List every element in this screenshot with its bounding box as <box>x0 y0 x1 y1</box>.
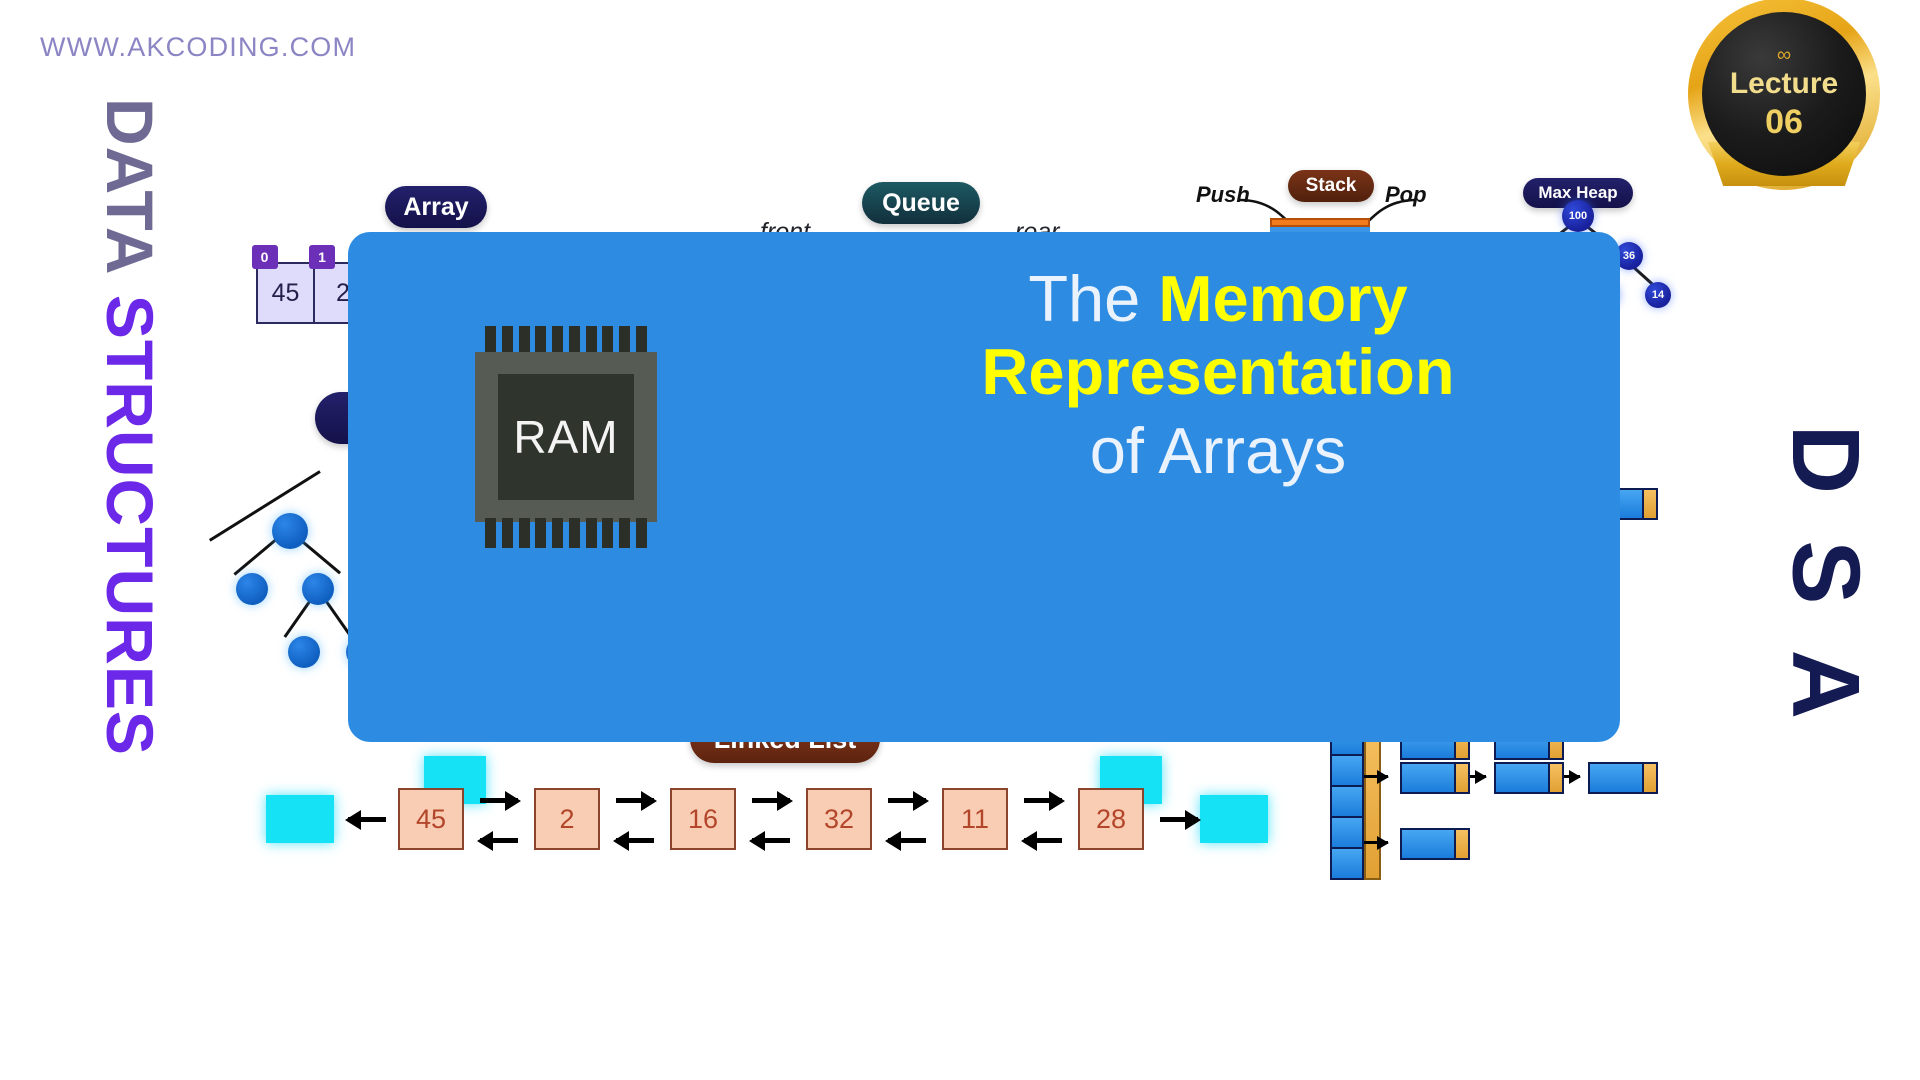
ram-pin <box>619 518 630 548</box>
linked-list-arrow-right <box>616 798 654 803</box>
slide-canvas: WWW.AKCODING.COM DATA STRUCTURES D S A ∞… <box>0 0 1920 1080</box>
ram-pins-bottom <box>485 518 647 548</box>
title-line-1: The Memory <box>848 266 1588 331</box>
hashset-node-value <box>1402 830 1454 858</box>
hashset-node <box>1588 762 1658 794</box>
ram-chip-body: RAM <box>475 352 657 522</box>
linked-list-arrow-right <box>888 798 926 803</box>
title-overlay-panel: RAM The Memory Representation of Arrays <box>348 232 1620 742</box>
ram-chip-label: RAM <box>498 374 634 500</box>
ram-pin <box>502 518 513 548</box>
ram-pin <box>602 518 613 548</box>
linked-list-arrow-left <box>888 838 926 843</box>
array-value: 45 <box>272 279 300 308</box>
title-highlight-memory: Memory <box>1158 262 1407 335</box>
linked-list-arrow-left <box>1024 838 1062 843</box>
heap-node: 100 <box>1562 200 1594 232</box>
linked-list-node: 45 <box>398 788 464 850</box>
linked-list-arrow-right <box>1024 798 1062 803</box>
hashset-link-arrow <box>1470 775 1486 778</box>
hashset-link-arrow <box>1364 775 1388 778</box>
ram-pin <box>535 518 546 548</box>
hashset-node <box>1400 828 1470 860</box>
hashset-node-pointer <box>1454 764 1468 792</box>
ram-pin <box>552 518 563 548</box>
linked-list-node: 2 <box>534 788 600 850</box>
hashset-link-arrow <box>1364 841 1388 844</box>
hashset-node-value <box>1590 764 1642 792</box>
hashset-link-arrow <box>1564 775 1580 778</box>
linked-list-node: 32 <box>806 788 872 850</box>
ram-pin <box>586 518 597 548</box>
hashset-bucket <box>1330 847 1364 880</box>
hashset-node <box>1494 762 1564 794</box>
ram-pin <box>569 518 580 548</box>
linked-list-node: 11 <box>942 788 1008 850</box>
hashset-bucket-pointer-column <box>1364 725 1381 880</box>
array-cell: 0 45 <box>256 262 316 324</box>
linked-list-null-tail <box>1200 795 1268 843</box>
hashset-node <box>1400 762 1470 794</box>
linked-list-arrow-right <box>752 798 790 803</box>
hashset-node-value <box>1402 764 1454 792</box>
slide-title: The Memory Representation of Arrays <box>848 266 1588 483</box>
linked-list-arrow-left <box>480 838 518 843</box>
title-highlight-representation: Representation <box>848 339 1588 404</box>
stack-top-bar <box>1270 218 1370 227</box>
hashset-node-pointer <box>1454 830 1468 858</box>
hashset-node-pointer <box>1548 764 1562 792</box>
ram-pin <box>636 518 647 548</box>
hashset-buckets <box>1330 725 1381 880</box>
tree-node <box>288 636 320 668</box>
linked-list-arrow-left <box>752 838 790 843</box>
hashset-node-value <box>1496 764 1548 792</box>
ram-pin <box>519 518 530 548</box>
label-array: Array <box>385 186 487 228</box>
title-line-3: of Arrays <box>848 418 1588 483</box>
linked-list-node: 28 <box>1078 788 1144 850</box>
array-index: 1 <box>309 245 335 269</box>
linked-list-node: 16 <box>670 788 736 850</box>
array-index: 0 <box>252 245 278 269</box>
hashset-bucket <box>1330 816 1364 849</box>
hashset-bucket-column <box>1330 725 1364 880</box>
linked-list-arrow-right <box>480 798 518 803</box>
hashmap-node-pointer <box>1642 490 1656 518</box>
hashset-node-pointer <box>1642 764 1656 792</box>
heap-node: 14 <box>1645 282 1671 308</box>
label-queue: Queue <box>862 182 980 224</box>
hashset-bucket <box>1330 785 1364 818</box>
linked-list-arrow-left <box>348 817 386 822</box>
tree-node <box>236 573 268 605</box>
linked-list-arrow-right <box>1160 817 1198 822</box>
title-plain-the: The <box>1028 262 1158 335</box>
linked-list-null-head <box>266 795 334 843</box>
tree-node <box>302 573 334 605</box>
ram-chip-illustration: RAM <box>475 352 657 522</box>
tree-node <box>272 513 308 549</box>
hashset-bucket <box>1330 754 1364 787</box>
ram-pin <box>485 518 496 548</box>
linked-list-arrow-left <box>616 838 654 843</box>
